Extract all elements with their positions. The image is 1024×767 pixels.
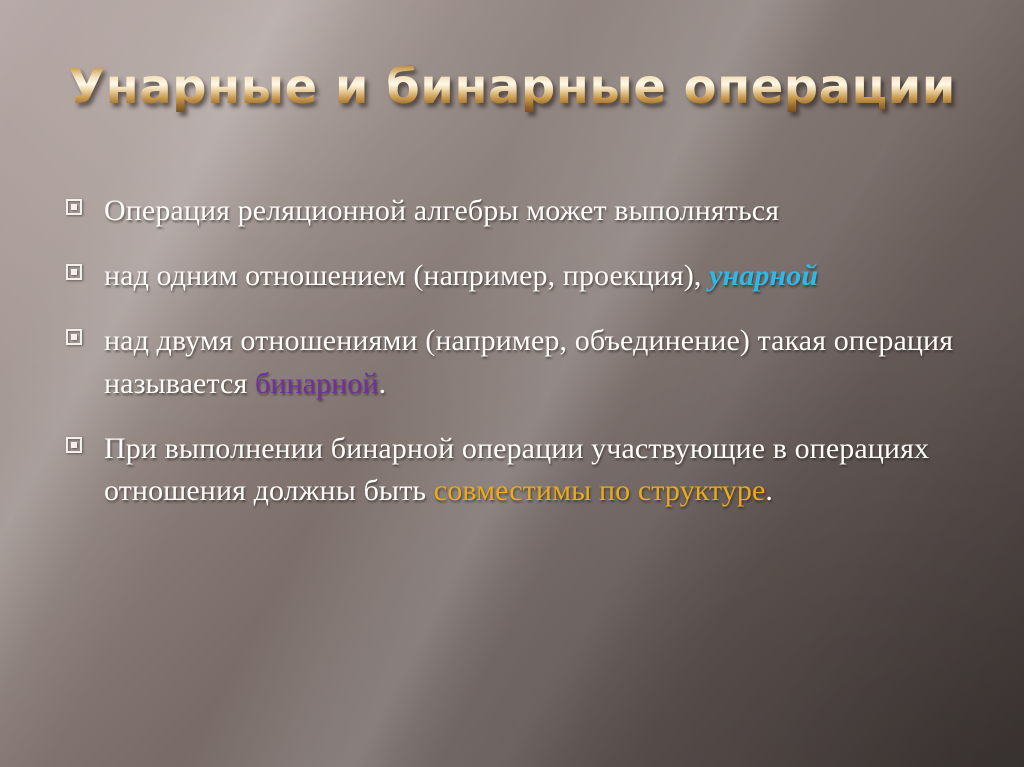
slide-body-content: Операция реляционной алгебры может выпол… [66,190,966,513]
bullet-3-run-1: над двумя отношениями (например, объедин… [104,324,953,400]
presentation-slide: Унарные и бинарные операции Операция рел… [0,0,1024,767]
slide-title: Унарные и бинарные операции [68,62,956,112]
bullet-2-run-1: над одним отношением (например, проекция… [104,259,709,292]
square-bullet-icon [66,437,82,453]
square-bullet-icon [66,329,82,345]
bullet-text-3: над двумя отношениями (например, объедин… [104,320,966,406]
bullet-1-run-1: Операция реляционной алгебры может выпол… [104,194,779,227]
bullet-text-4: При выполнении бинарной операции участву… [104,428,966,514]
bullet-4-run-3: . [765,474,773,507]
bullet-3-highlight-binary: бинарной [255,367,379,400]
bullet-text-2: над одним отношением (например, проекция… [104,255,966,298]
slide-title-area: Унарные и бинарные операции [0,62,1024,112]
bullet-4-highlight-compatible: совместимы по структуре [434,474,766,507]
bullet-item-4: При выполнении бинарной операции участву… [66,428,966,514]
bullet-3-run-3: . [379,367,387,400]
bullet-2-highlight-unary: унарной [709,259,818,292]
bullet-item-2: над одним отношением (например, проекция… [66,255,966,298]
square-bullet-icon [66,199,82,215]
bullet-item-1: Операция реляционной алгебры может выпол… [66,190,966,233]
square-bullet-icon [66,264,82,280]
bullet-item-3: над двумя отношениями (например, объедин… [66,320,966,406]
bullet-text-1: Операция реляционной алгебры может выпол… [104,190,966,233]
